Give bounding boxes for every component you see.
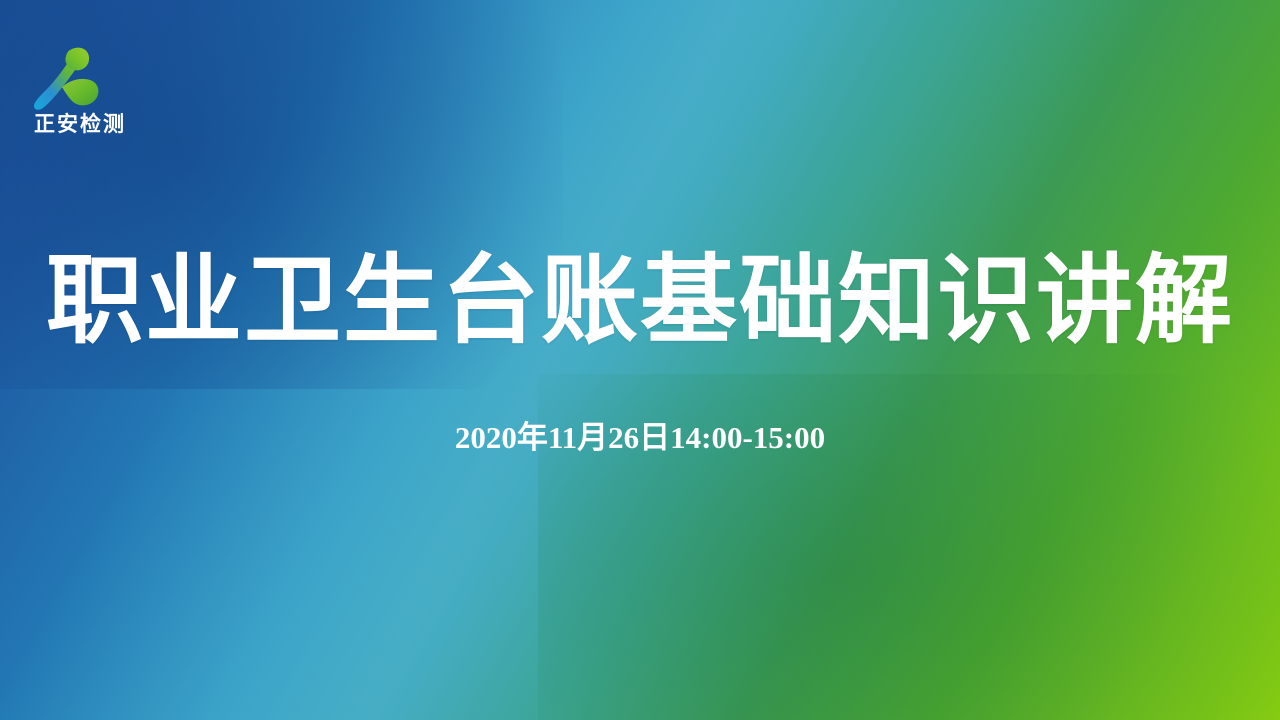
slide-title: 职业卫生台账基础知识讲解 <box>0 243 1280 361</box>
company-logo: 正安检测 <box>14 46 146 150</box>
company-name: 正安检测 <box>14 114 146 135</box>
logo-mark-icon <box>28 46 102 112</box>
slide-subtitle-datetime: 2020年11月26日14:00-15:00 <box>0 418 1280 458</box>
presentation-slide: 正安检测 职业卫生台账基础知识讲解 2020年11月26日14:00-15:00 <box>0 0 1280 720</box>
